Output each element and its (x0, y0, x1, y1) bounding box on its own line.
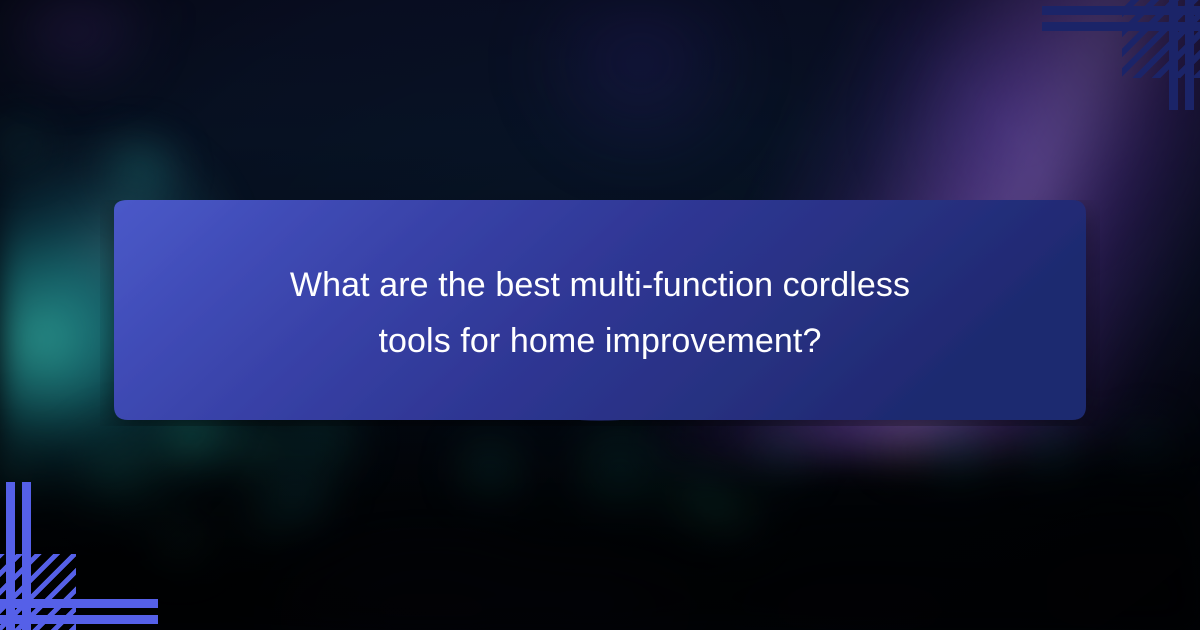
corner-rail-horizontal-inner-tr (1042, 22, 1200, 31)
corner-rail-horizontal-outer-bl (0, 615, 158, 624)
corner-rail-vertical-inner-tr (1169, 0, 1178, 110)
corner-hatch-top-right (1122, 0, 1200, 78)
question-line-2: tools for home improvement? (378, 313, 821, 369)
question-text-block: What are the best multi-function cordles… (100, 200, 1100, 426)
corner-rail-horizontal-outer-tr (1042, 6, 1200, 15)
social-card-canvas: What are the best multi-function cordles… (0, 0, 1200, 630)
corner-bracket-bottom-left (0, 440, 180, 630)
question-line-1: What are the best multi-function cordles… (290, 257, 910, 313)
question-card: What are the best multi-function cordles… (100, 200, 1100, 426)
corner-rail-vertical-outer-tr (1185, 0, 1194, 110)
corner-bracket-top-right (1030, 0, 1200, 120)
corner-rail-horizontal-inner-bl (0, 599, 158, 608)
corner-rail-vertical-outer-bl (6, 482, 15, 630)
corner-hatch-bottom-left (0, 554, 76, 630)
corner-rail-vertical-inner-bl (22, 482, 31, 630)
